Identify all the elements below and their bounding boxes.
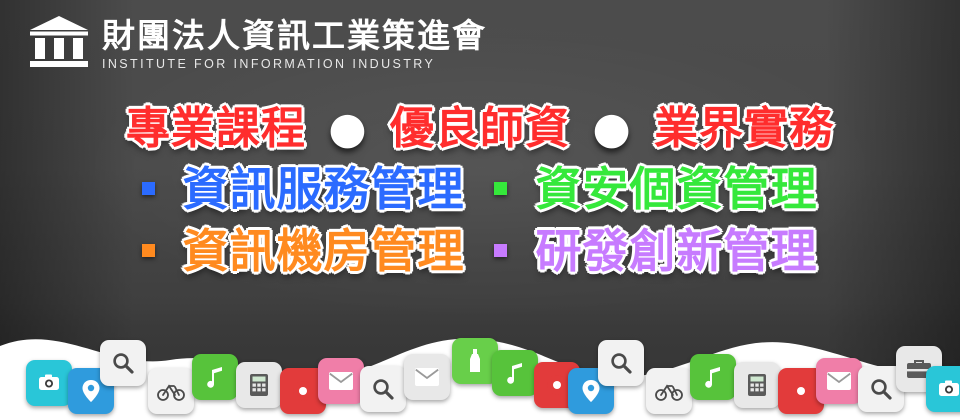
headline-seg-courses: 專業課程 [126,100,306,158]
bullet-square-orange-icon [142,244,155,257]
bullet-square-green-icon [494,182,507,195]
promo-banner: 財團法人資訊工業策進會 INSTITUTE FOR INFORMATION IN… [0,0,960,420]
organization-logo: 財團法人資訊工業策進會 INSTITUTE FOR INFORMATION IN… [28,14,487,71]
logo-english-name: INSTITUTE FOR INFORMATION INDUSTRY [102,57,487,71]
headline-copy: 專業課程 ● 優良師資 ● 業界實務 資訊服務管理 資安個資管理 資訊機房管理 … [0,100,960,282]
headline-line-1: 專業課程 ● 優良師資 ● 業界實務 [0,100,960,158]
headline-line-3: 資訊機房管理 研發創新管理 [0,220,960,282]
logo-chinese-name: 財團法人資訊工業策進會 [102,18,487,54]
headline-seg-teachers: 優良師資 [390,100,570,158]
institute-pillars-icon [28,14,90,70]
bullet-square-violet-icon [494,244,507,257]
topic-it-service-management: 資訊服務管理 [182,158,464,220]
headline-dot-1: ● [322,103,373,154]
topic-rd-innovation-management: 研發創新管理 [536,220,818,282]
topic-datacenter-management: 資訊機房管理 [182,220,464,282]
bullet-square-blue-icon [142,182,155,195]
headline-seg-practice: 業界實務 [654,100,834,158]
bottom-wave-decoration [0,300,960,420]
headline-line-2: 資訊服務管理 資安個資管理 [0,158,960,220]
headline-dot-2: ● [586,103,637,154]
topic-infosec-privacy-management: 資安個資管理 [536,158,818,220]
